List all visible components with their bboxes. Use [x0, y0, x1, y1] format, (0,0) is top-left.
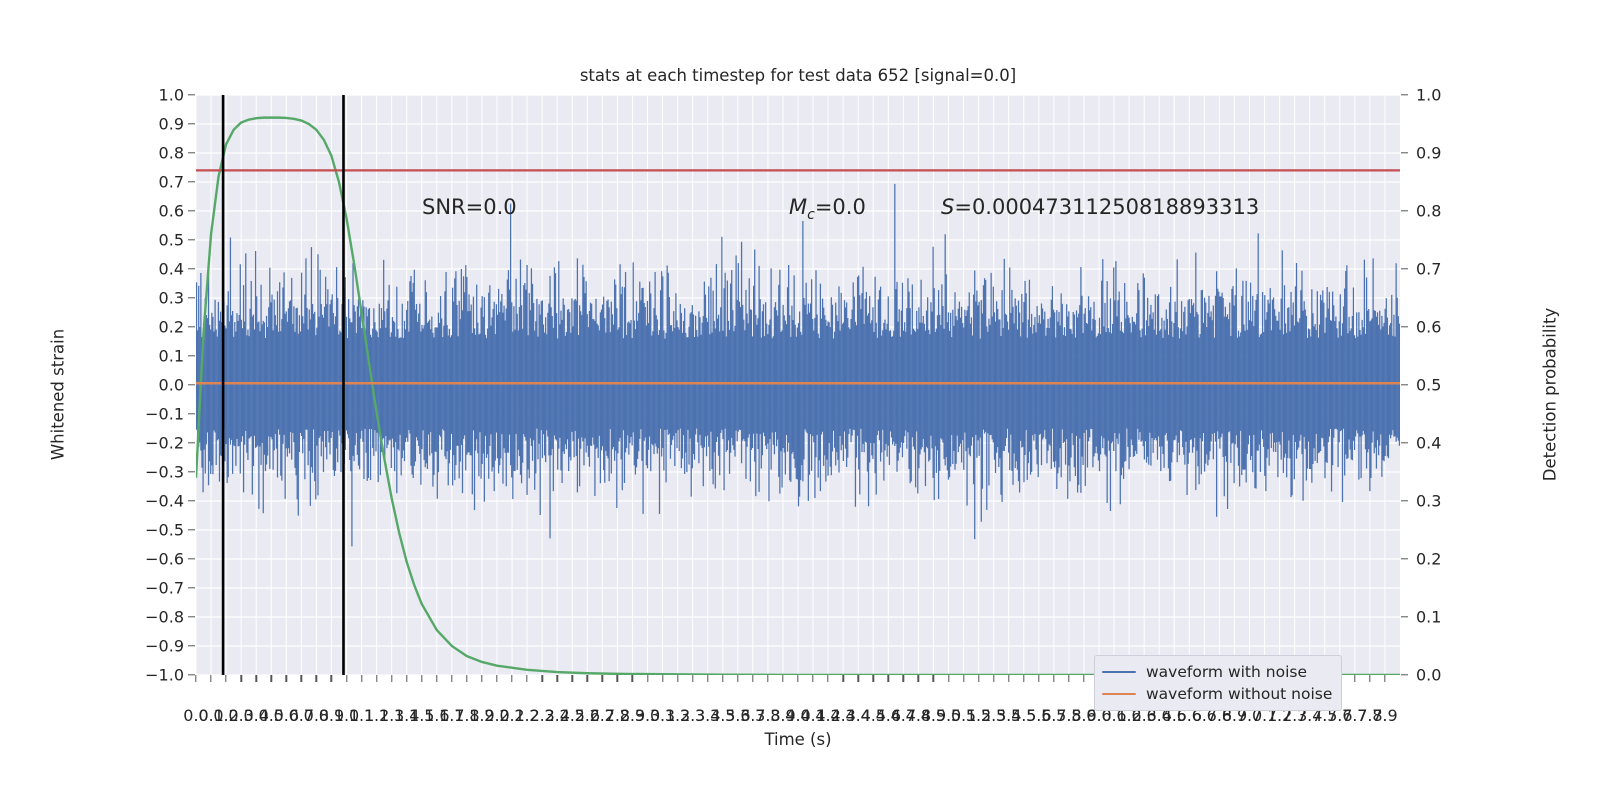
plot-canvas — [196, 95, 1400, 675]
x-tick-mark — [722, 675, 723, 682]
x-tick-mark — [301, 675, 302, 682]
x-tick-mark — [361, 675, 362, 682]
x-tick-mark — [1008, 675, 1009, 682]
x-tick-mark — [376, 675, 377, 682]
x-tick-mark — [271, 675, 272, 682]
x-tick-mark — [331, 675, 332, 682]
y-tick-label-right: 0.0 — [1416, 666, 1476, 685]
y-tick-mark-left — [188, 268, 195, 269]
y-tick-mark-left — [188, 616, 195, 617]
y-tick-label-left: 0.2 — [124, 318, 184, 337]
y-tick-mark-right — [1401, 94, 1408, 95]
x-tick-mark — [240, 675, 241, 682]
y-tick-mark-left — [188, 123, 195, 124]
y-tick-mark-left — [188, 558, 195, 559]
y-tick-mark-left — [188, 645, 195, 646]
x-tick-mark — [888, 675, 889, 682]
y-tick-label-left: 0.5 — [124, 231, 184, 250]
y-tick-mark-right — [1401, 674, 1408, 675]
x-tick-mark — [692, 675, 693, 682]
x-tick-mark — [225, 675, 226, 682]
x-tick-mark — [948, 675, 949, 682]
y-tick-label-left: 0.9 — [124, 115, 184, 134]
y-tick-label-left: −0.1 — [124, 405, 184, 424]
y-tick-mark-right — [1401, 500, 1408, 501]
y-tick-label-left: 0.7 — [124, 173, 184, 192]
y-tick-mark-left — [188, 210, 195, 211]
legend-item-label: waveform without noise — [1146, 685, 1332, 703]
x-tick-mark — [286, 675, 287, 682]
y-tick-mark-left — [188, 384, 195, 385]
x-tick-mark — [1384, 675, 1385, 682]
y-tick-label-right: 0.6 — [1416, 318, 1476, 337]
legend-item[interactable]: waveform with noise — [1102, 661, 1332, 683]
y-tick-mark-right — [1401, 326, 1408, 327]
y-tick-mark-right — [1401, 616, 1408, 617]
annotation-statistic: S=0.00047311250818893313 — [941, 195, 1259, 219]
x-tick-mark — [903, 675, 904, 682]
x-tick-mark — [767, 675, 768, 682]
y-tick-mark-left — [188, 355, 195, 356]
y-tick-mark-left — [188, 297, 195, 298]
x-tick-mark — [842, 675, 843, 682]
x-tick-mark — [1053, 675, 1054, 682]
y-tick-label-left: −0.2 — [124, 434, 184, 453]
legend-item[interactable]: waveform without noise — [1102, 683, 1332, 705]
x-tick-mark — [526, 675, 527, 682]
y-tick-mark-right — [1401, 268, 1408, 269]
y-tick-label-left: −0.9 — [124, 637, 184, 656]
y-tick-label-left: −1.0 — [124, 666, 184, 685]
x-tick-mark — [1083, 675, 1084, 682]
y-tick-label-right: 0.4 — [1416, 434, 1476, 453]
x-tick-mark — [602, 675, 603, 682]
x-tick-mark — [933, 675, 934, 682]
x-tick-mark — [632, 675, 633, 682]
y-tick-label-right: 0.1 — [1416, 608, 1476, 627]
x-tick-mark — [496, 675, 497, 682]
x-tick-mark — [1068, 675, 1069, 682]
x-tick-mark — [812, 675, 813, 682]
x-tick-mark — [406, 675, 407, 682]
y-tick-label-left: −0.4 — [124, 492, 184, 511]
y-tick-label-right: 0.2 — [1416, 550, 1476, 569]
x-tick-mark — [195, 675, 196, 682]
x-tick-mark — [857, 675, 858, 682]
legend-color-swatch — [1102, 693, 1136, 696]
y-tick-label-left: 0.1 — [124, 347, 184, 366]
x-tick-mark — [421, 675, 422, 682]
legend-color-swatch — [1102, 671, 1136, 674]
y-tick-label-right: 0.5 — [1416, 376, 1476, 395]
x-tick-mark — [1369, 675, 1370, 682]
y-tick-label-left: 0.3 — [124, 289, 184, 308]
figure: stats at each timestep for test data 652… — [0, 0, 1600, 800]
y-tick-mark-left — [188, 326, 195, 327]
x-tick-mark — [436, 675, 437, 682]
legend: waveform with noisewaveform without nois… — [1094, 655, 1342, 711]
y-tick-label-right: 0.9 — [1416, 144, 1476, 163]
y-tick-mark-right — [1401, 442, 1408, 443]
x-tick-mark — [918, 675, 919, 682]
x-tick-mark — [587, 675, 588, 682]
x-tick-mark — [481, 675, 482, 682]
x-tick-mark — [677, 675, 678, 682]
x-tick-label: 7.9 — [1372, 706, 1397, 725]
x-tick-mark — [737, 675, 738, 682]
y-tick-label-left: 0.6 — [124, 202, 184, 221]
x-tick-mark — [346, 675, 347, 682]
x-tick-mark — [782, 675, 783, 682]
y-tick-label-right: 0.8 — [1416, 202, 1476, 221]
y-tick-mark-left — [188, 500, 195, 501]
y-tick-mark-right — [1401, 384, 1408, 385]
x-tick-mark — [541, 675, 542, 682]
y-tick-label-left: −0.8 — [124, 608, 184, 627]
y-tick-label-right: 0.3 — [1416, 492, 1476, 511]
plot-axes: SNR=0.0 Mc=0.0 S=0.00047311250818893313 — [196, 95, 1400, 675]
annotation-snr: SNR=0.0 — [422, 195, 517, 219]
y-tick-label-left: −0.7 — [124, 579, 184, 598]
x-tick-mark — [255, 675, 256, 682]
y-tick-label-left: 0.4 — [124, 260, 184, 279]
x-tick-mark — [210, 675, 211, 682]
x-axis-label: Time (s) — [196, 730, 1400, 749]
y-tick-mark-left — [188, 94, 195, 95]
x-tick-mark — [391, 675, 392, 682]
x-tick-mark — [827, 675, 828, 682]
x-tick-mark — [316, 675, 317, 682]
annotation-chirp-mass: Mc=0.0 — [789, 195, 866, 223]
y-tick-mark-left — [188, 471, 195, 472]
x-tick-mark — [752, 675, 753, 682]
x-tick-mark — [963, 675, 964, 682]
x-tick-mark — [511, 675, 512, 682]
y-tick-mark-left — [188, 442, 195, 443]
y-tick-mark-right — [1401, 210, 1408, 211]
y-tick-label-right: 1.0 — [1416, 86, 1476, 105]
x-tick-mark — [466, 675, 467, 682]
x-tick-mark — [873, 675, 874, 682]
y-tick-mark-left — [188, 413, 195, 414]
x-tick-mark — [1354, 675, 1355, 682]
x-tick-mark — [1038, 675, 1039, 682]
legend-item-label: waveform with noise — [1146, 663, 1307, 681]
x-tick-mark — [647, 675, 648, 682]
y-tick-label-left: −0.6 — [124, 550, 184, 569]
y-tick-label-left: 0.0 — [124, 376, 184, 395]
y-tick-mark-left — [188, 587, 195, 588]
y-tick-label-left: 1.0 — [124, 86, 184, 105]
x-tick-mark — [993, 675, 994, 682]
chart-title: stats at each timestep for test data 652… — [196, 66, 1400, 85]
y-tick-mark-left — [188, 152, 195, 153]
x-tick-mark — [797, 675, 798, 682]
x-tick-mark — [707, 675, 708, 682]
x-tick-mark — [451, 675, 452, 682]
y-tick-mark-right — [1401, 558, 1408, 559]
y-tick-mark-left — [188, 674, 195, 675]
x-tick-mark — [662, 675, 663, 682]
y-axis-left-label: Whitened strain — [49, 285, 68, 505]
y-tick-label-right: 0.7 — [1416, 260, 1476, 279]
y-tick-mark-left — [188, 181, 195, 182]
x-tick-mark — [556, 675, 557, 682]
x-tick-mark — [617, 675, 618, 682]
x-tick-mark — [1023, 675, 1024, 682]
y-tick-mark-left — [188, 529, 195, 530]
y-tick-label-left: 0.8 — [124, 144, 184, 163]
y-tick-mark-left — [188, 239, 195, 240]
x-tick-mark — [572, 675, 573, 682]
y-tick-mark-right — [1401, 152, 1408, 153]
x-tick-mark — [978, 675, 979, 682]
y-axis-right-label: Detection probability — [1541, 285, 1560, 505]
y-tick-label-left: −0.3 — [124, 463, 184, 482]
y-tick-label-left: −0.5 — [124, 521, 184, 540]
